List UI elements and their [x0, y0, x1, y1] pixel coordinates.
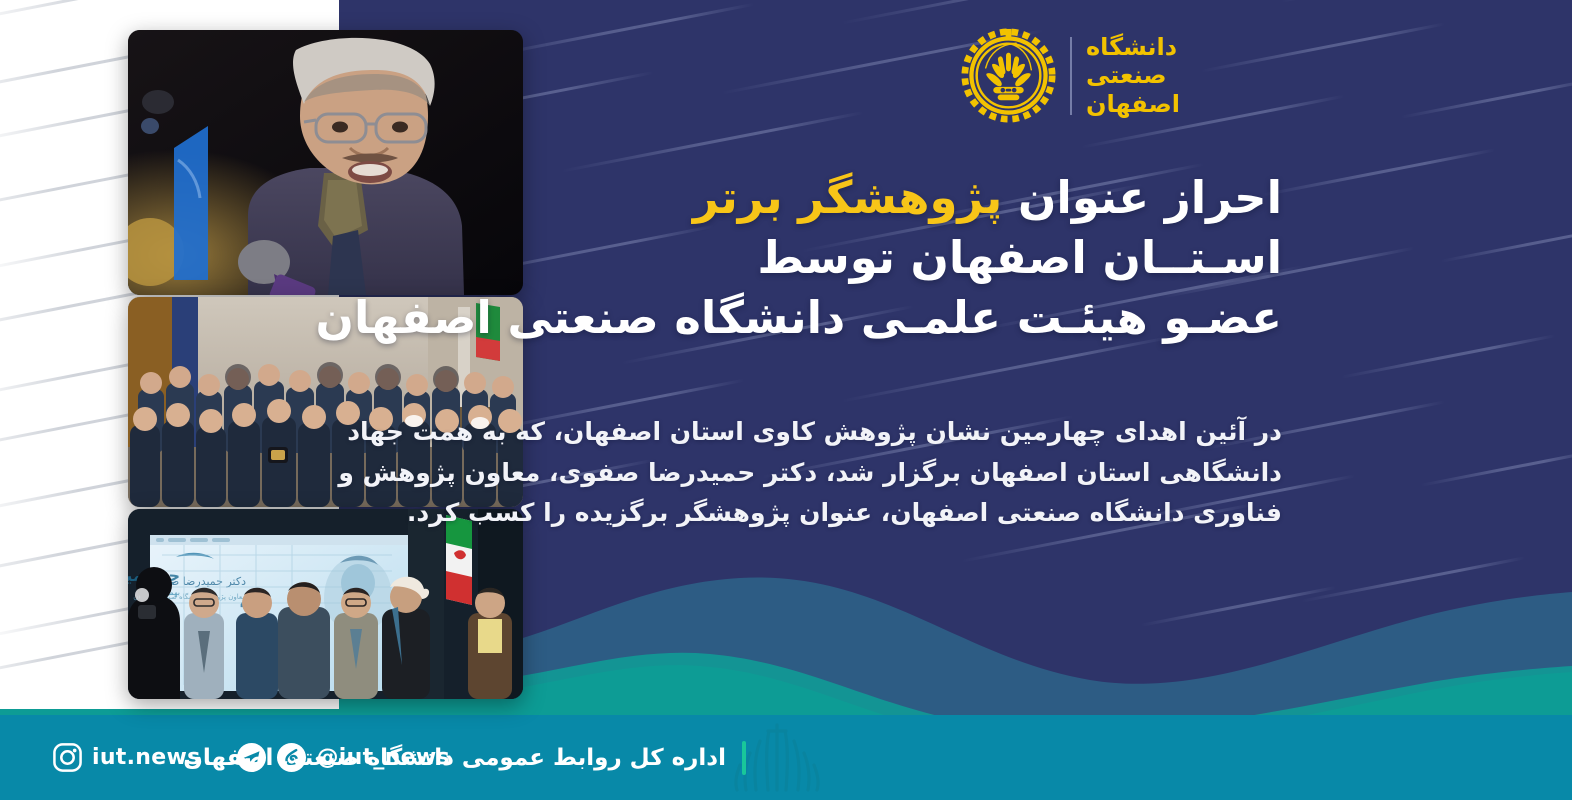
headline-accent: پژوهشگر برتر: [693, 171, 1002, 224]
footer-title: اداره کل روابط عمومی دانشگاه صنعتی اصفها…: [183, 745, 726, 771]
body-line-3: فناوری دانشگاه صنعتی اصفهان، عنوان پژوهش…: [542, 493, 1282, 534]
headline-line-3: عضـو هیئـت علمـی دانشگاه صنعتی اصفهان: [542, 288, 1282, 348]
body-line-1: در آئین اهدای چهارمین نشان پژوهش کاوی اس…: [542, 412, 1282, 453]
footer-title-group: اداره کل روابط عمومی دانشگاه صنعتی اصفها…: [183, 715, 746, 800]
footer-bar: iut.news @iut_news: [0, 715, 1572, 800]
university-name-line-2: صنعتی: [1086, 61, 1167, 89]
headline-line-1: احراز عنوان پژوهشگر برتر: [542, 168, 1282, 228]
portrait-photo: [128, 30, 523, 295]
university-name: دانشگاه صنعتی اصفهان: [1086, 33, 1180, 118]
headline-line-1-pre: احراز عنوان: [1002, 171, 1282, 224]
iut-gear-emblem-icon: [961, 28, 1056, 123]
ceremony-photo: چهارمین بهمن ۱۴۰۱ دکتر حمیدرضا صفوی معاو…: [128, 509, 523, 699]
footer-separator: [742, 741, 746, 775]
brand-logo-block: دانشگاه صنعتی اصفهان: [961, 28, 1180, 123]
poster-canvas: iut.news @iut_news: [0, 0, 1572, 800]
logo-divider: [1070, 37, 1072, 115]
body-line-2: دانشگاهی استان اصفهان برگزار شد، دکتر حم…: [542, 453, 1282, 494]
headline-line-2: اسـتــان اصفهان توسط: [542, 228, 1282, 288]
instagram-icon[interactable]: [52, 742, 83, 773]
social-instagram[interactable]: iut.news: [52, 742, 200, 773]
university-name-line-3: اصفهان: [1086, 90, 1180, 118]
body-paragraph: در آئین اهدای چهارمین نشان پژوهش کاوی اس…: [542, 412, 1282, 534]
headline: احراز عنوان پژوهشگر برتر اسـتــان اصفهان…: [542, 168, 1282, 348]
university-name-line-1: دانشگاه: [1086, 33, 1177, 61]
